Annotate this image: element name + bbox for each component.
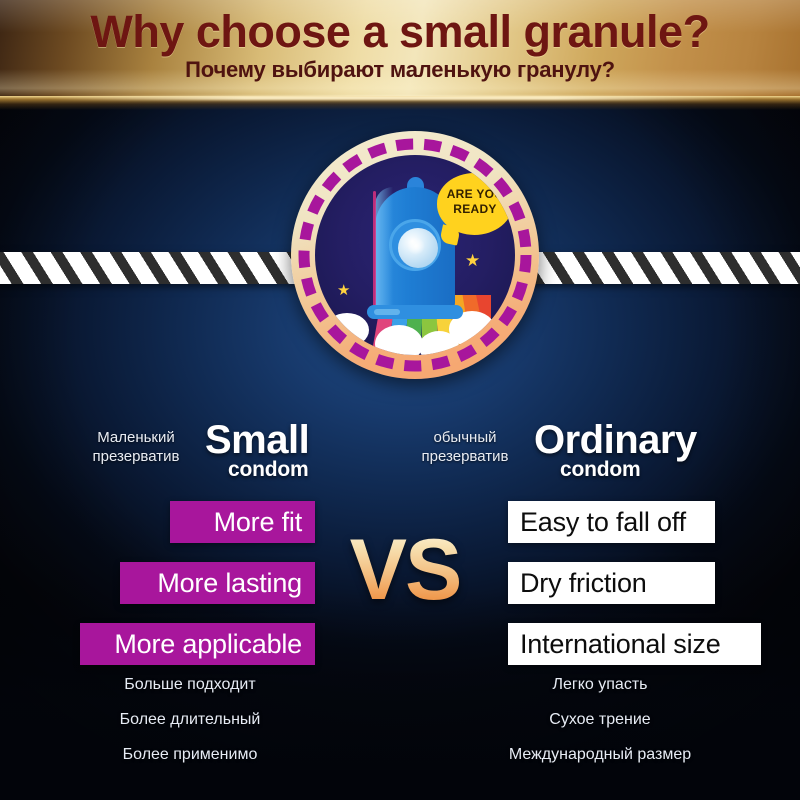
feature-bar-left-label: More fit (214, 507, 302, 538)
feature-bar-left-label: More lasting (157, 568, 302, 599)
badge-inner-scene: ★ ★ (315, 155, 515, 355)
right-title-ru-line1: обычный (395, 428, 535, 447)
left-title-ru-line2: презерватив (62, 447, 210, 466)
porthole-glass (398, 228, 438, 268)
feature-bar-left[interactable]: More lasting (120, 562, 315, 604)
left-column-russian-title: Маленький презерватив (62, 428, 210, 466)
left-note: Более применимо (60, 746, 320, 764)
left-column-title: Small (205, 420, 309, 460)
left-title-ru-line1: Маленький (62, 428, 210, 447)
feature-bar-right[interactable]: Dry friction (508, 562, 715, 604)
page-title-russian: Почему выбирают маленькую гранулу? (0, 57, 800, 83)
feature-bar-right-label: International size (520, 629, 721, 660)
sparkle-icon (407, 237, 425, 255)
feature-bar-left-label: More applicable (114, 629, 302, 660)
speech-bubble-text: ARE YOU READY (437, 187, 513, 217)
porthole-window-icon (389, 219, 441, 271)
product-badge: ★ ★ (291, 131, 539, 379)
left-note: Больше подходит (60, 676, 320, 694)
left-note: Более длительный (60, 711, 320, 729)
right-column-russian-title: обычный презерватив (395, 428, 535, 466)
star-icon-large: ★ (465, 252, 480, 269)
left-column-subtitle: condom (228, 459, 308, 481)
right-title-ru-line2: презерватив (395, 447, 535, 466)
right-column-subtitle: condom (560, 459, 640, 481)
feature-bar-right[interactable]: International size (508, 623, 761, 665)
right-note: Международный размер (460, 746, 740, 764)
feature-bar-right-label: Dry friction (520, 568, 647, 599)
cloud-shape (375, 325, 423, 355)
cloud-shape (325, 313, 369, 347)
right-note: Сухое трение (460, 711, 740, 729)
versus-label: VS (330, 527, 480, 613)
feature-bar-left[interactable]: More applicable (80, 623, 315, 665)
speech-bubble: ARE YOU READY (437, 173, 513, 235)
feature-bar-right-label: Easy to fall off (520, 507, 686, 538)
page-title-english: Why choose a small granule? (0, 6, 800, 58)
right-column-title: Ordinary (534, 420, 697, 460)
condom-edge-highlight (373, 191, 376, 311)
feature-bar-right[interactable]: Easy to fall off (508, 501, 715, 543)
striped-ribbon-left (0, 252, 314, 284)
infographic-poster: Why choose a small granule? Почему выбир… (0, 0, 800, 800)
right-note: Легко упасть (460, 676, 740, 694)
banner-bottom-edge (0, 96, 800, 110)
feature-bar-left[interactable]: More fit (170, 501, 315, 543)
condom-base-ring (367, 305, 463, 319)
background-bottom-fade (0, 590, 800, 800)
